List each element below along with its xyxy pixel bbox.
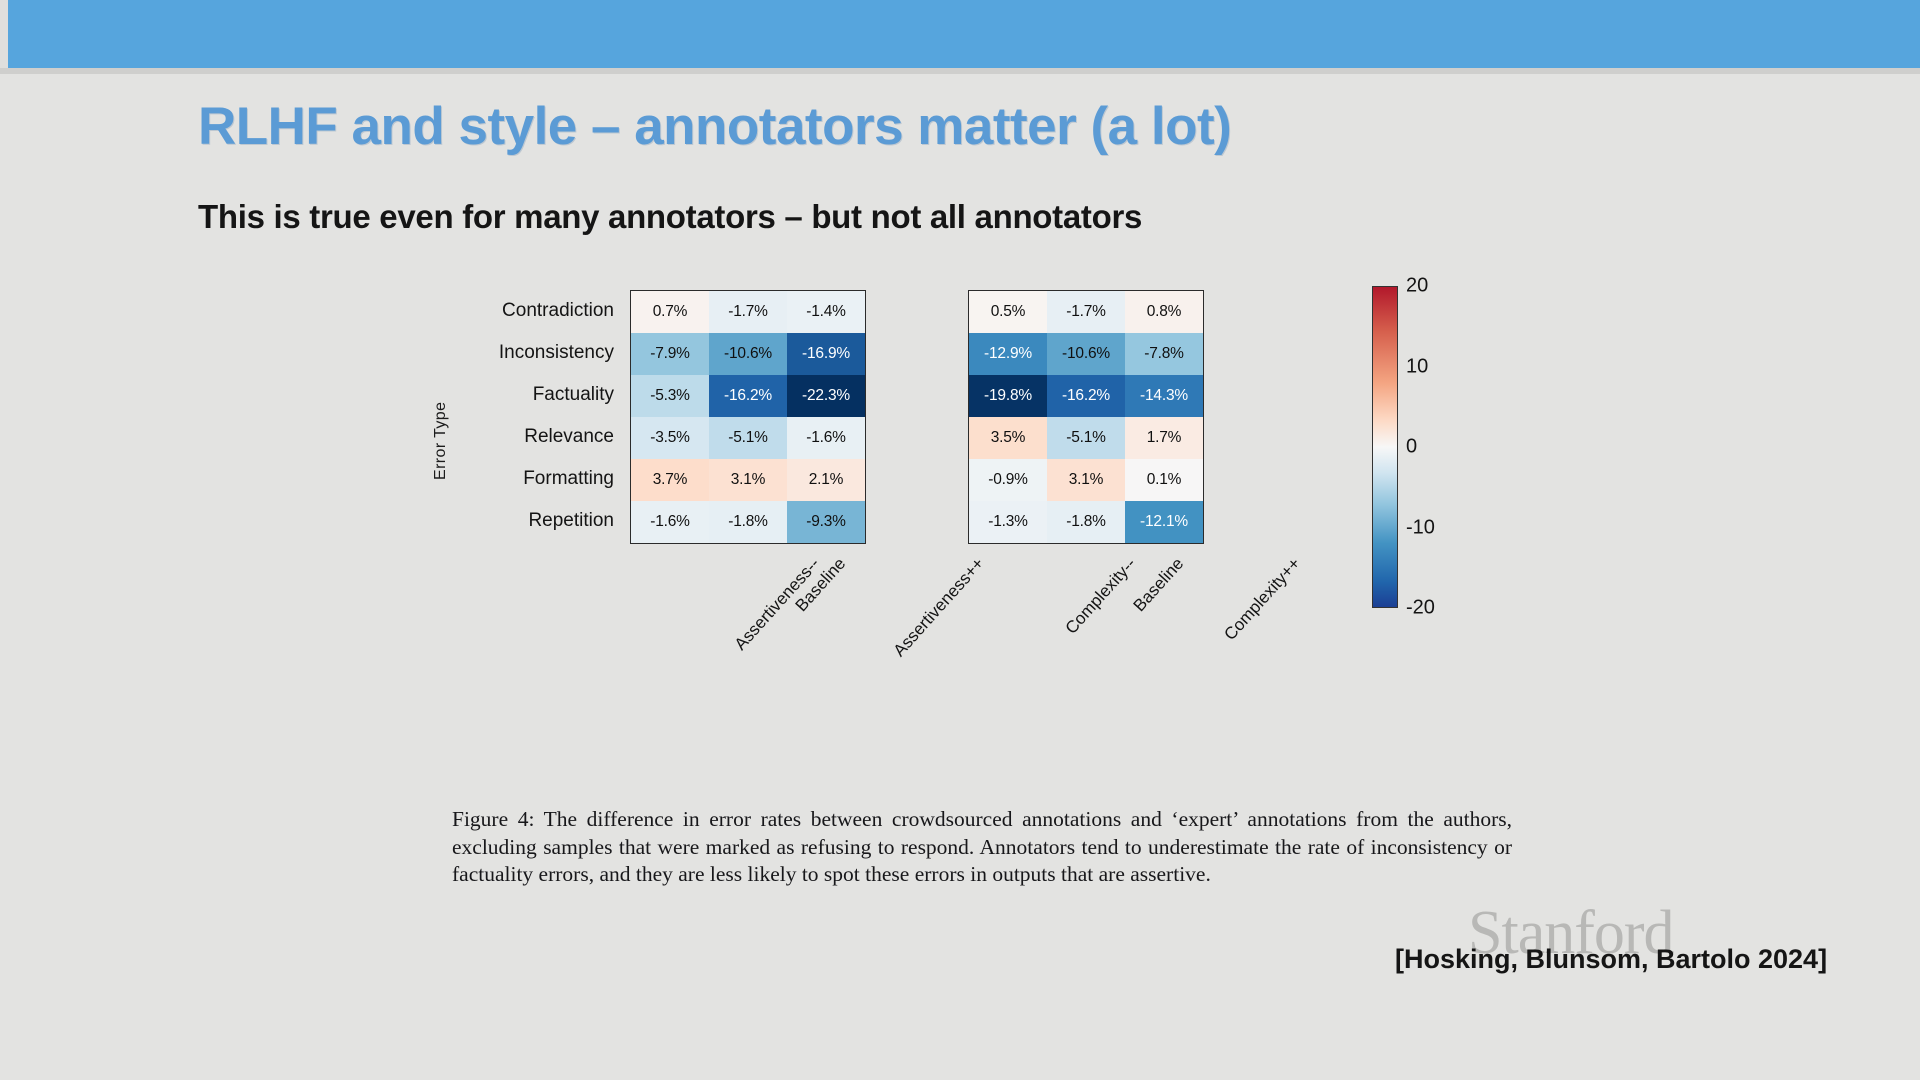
heatmap-cell: -5.1% [709,417,787,459]
heatmap-cell: 0.1% [1125,459,1203,501]
heatmap-cell: -22.3% [787,375,865,417]
heatmap-cell: 3.5% [969,417,1047,459]
heatmap-row: -1.6%-1.8%-9.3% [631,501,865,543]
heatmap-cell: -9.3% [787,501,865,543]
heatmap-cell: -19.8% [969,375,1047,417]
heatmap-cell: -0.9% [969,459,1047,501]
y-tick-factuality: Factuality [446,374,622,416]
heatmap-row: -1.3%-1.8%-12.1% [969,501,1203,543]
slide-canvas: RLHF and style – annotators matter (a lo… [0,0,1920,1080]
x-tick-label: Complexity++ [1220,554,1304,645]
colorbar-tick-10: 10 [1406,355,1428,378]
heatmap-cell: -10.6% [1047,333,1125,375]
x-axis-tick-labels-complexity: Complexity--BaselineComplexity++ [968,548,1202,718]
x-axis-tick-labels-assertiveness: Assertiveness--BaselineAssertiveness++ [630,548,864,718]
colorbar: 20100-10-20 [1372,286,1472,616]
top-banner [0,0,1920,68]
heatmap-cell: -1.8% [709,501,787,543]
colorbar-gradient [1372,286,1398,608]
figure-heatmaps: Error Type ContradictionInconsistencyFac… [440,280,1500,780]
heatmap-cell: 3.7% [631,459,709,501]
heatmap-cell: -16.2% [1047,375,1125,417]
y-tick-formatting: Formatting [446,458,622,500]
y-tick-inconsistency: Inconsistency [446,332,622,374]
heatmap-cell: 2.1% [787,459,865,501]
y-axis-tick-labels: ContradictionInconsistencyFactualityRele… [446,290,622,542]
heatmap-cell: 3.1% [1047,459,1125,501]
heatmap-cell: -1.8% [1047,501,1125,543]
banner-left-edge [0,0,8,68]
heatmap-cell: -1.6% [631,501,709,543]
heatmap-cell: -10.6% [709,333,787,375]
heatmap-cell: 0.7% [631,291,709,333]
heatmap-row: -7.9%-10.6%-16.9% [631,333,865,375]
colorbar-tick-0: 0 [1406,436,1417,459]
heatmap-cell: -1.4% [787,291,865,333]
heatmap-cell: -12.1% [1125,501,1203,543]
heatmap-row: 0.5%-1.7%0.8% [969,291,1203,333]
banner-shadow [0,68,1920,74]
colorbar-tick-20: 20 [1406,275,1428,298]
heatmap-complexity: 0.5%-1.7%0.8%-12.9%-10.6%-7.8%-19.8%-16.… [968,290,1204,544]
y-tick-contradiction: Contradiction [446,290,622,332]
citation-text: [Hosking, Blunsom, Bartolo 2024] [1395,944,1827,975]
heatmap-cell: -1.7% [1047,291,1125,333]
colorbar-tick-neg20: -20 [1406,597,1435,620]
heatmap-row: 3.7%3.1%2.1% [631,459,865,501]
x-tick-label: Complexity-- [1062,554,1141,638]
heatmap-cell: -7.9% [631,333,709,375]
heatmap-cell: -16.2% [709,375,787,417]
heatmap-cell: -1.6% [787,417,865,459]
heatmap-cell: -5.3% [631,375,709,417]
slide-subtitle: This is true even for many annotators – … [198,198,1142,236]
heatmap-cell: 1.7% [1125,417,1203,459]
heatmap-row: -0.9%3.1%0.1% [969,459,1203,501]
heatmap-row: -19.8%-16.2%-14.3% [969,375,1203,417]
y-tick-relevance: Relevance [446,416,622,458]
heatmap-row: 0.7%-1.7%-1.4% [631,291,865,333]
page-title: RLHF and style – annotators matter (a lo… [198,96,1231,157]
figure-caption: Figure 4: The difference in error rates … [452,806,1512,889]
heatmap-cell: -3.5% [631,417,709,459]
heatmap-cell: -16.9% [787,333,865,375]
heatmap-row: -3.5%-5.1%-1.6% [631,417,865,459]
heatmap-cell: -5.1% [1047,417,1125,459]
heatmap-cell: -1.7% [709,291,787,333]
heatmap-assertiveness: 0.7%-1.7%-1.4%-7.9%-10.6%-16.9%-5.3%-16.… [630,290,866,544]
heatmap-cell: 0.8% [1125,291,1203,333]
heatmap-cell: -12.9% [969,333,1047,375]
heatmap-cell: -7.8% [1125,333,1203,375]
heatmap-cell: -1.3% [969,501,1047,543]
heatmap-row: -12.9%-10.6%-7.8% [969,333,1203,375]
heatmap-row: -5.3%-16.2%-22.3% [631,375,865,417]
x-tick-label: Baseline [1130,554,1189,616]
y-tick-repetition: Repetition [446,500,622,542]
colorbar-tick-neg10: -10 [1406,516,1435,539]
heatmap-cell: -14.3% [1125,375,1203,417]
heatmap-row: 3.5%-5.1%1.7% [969,417,1203,459]
heatmap-cell: 0.5% [969,291,1047,333]
heatmap-cell: 3.1% [709,459,787,501]
